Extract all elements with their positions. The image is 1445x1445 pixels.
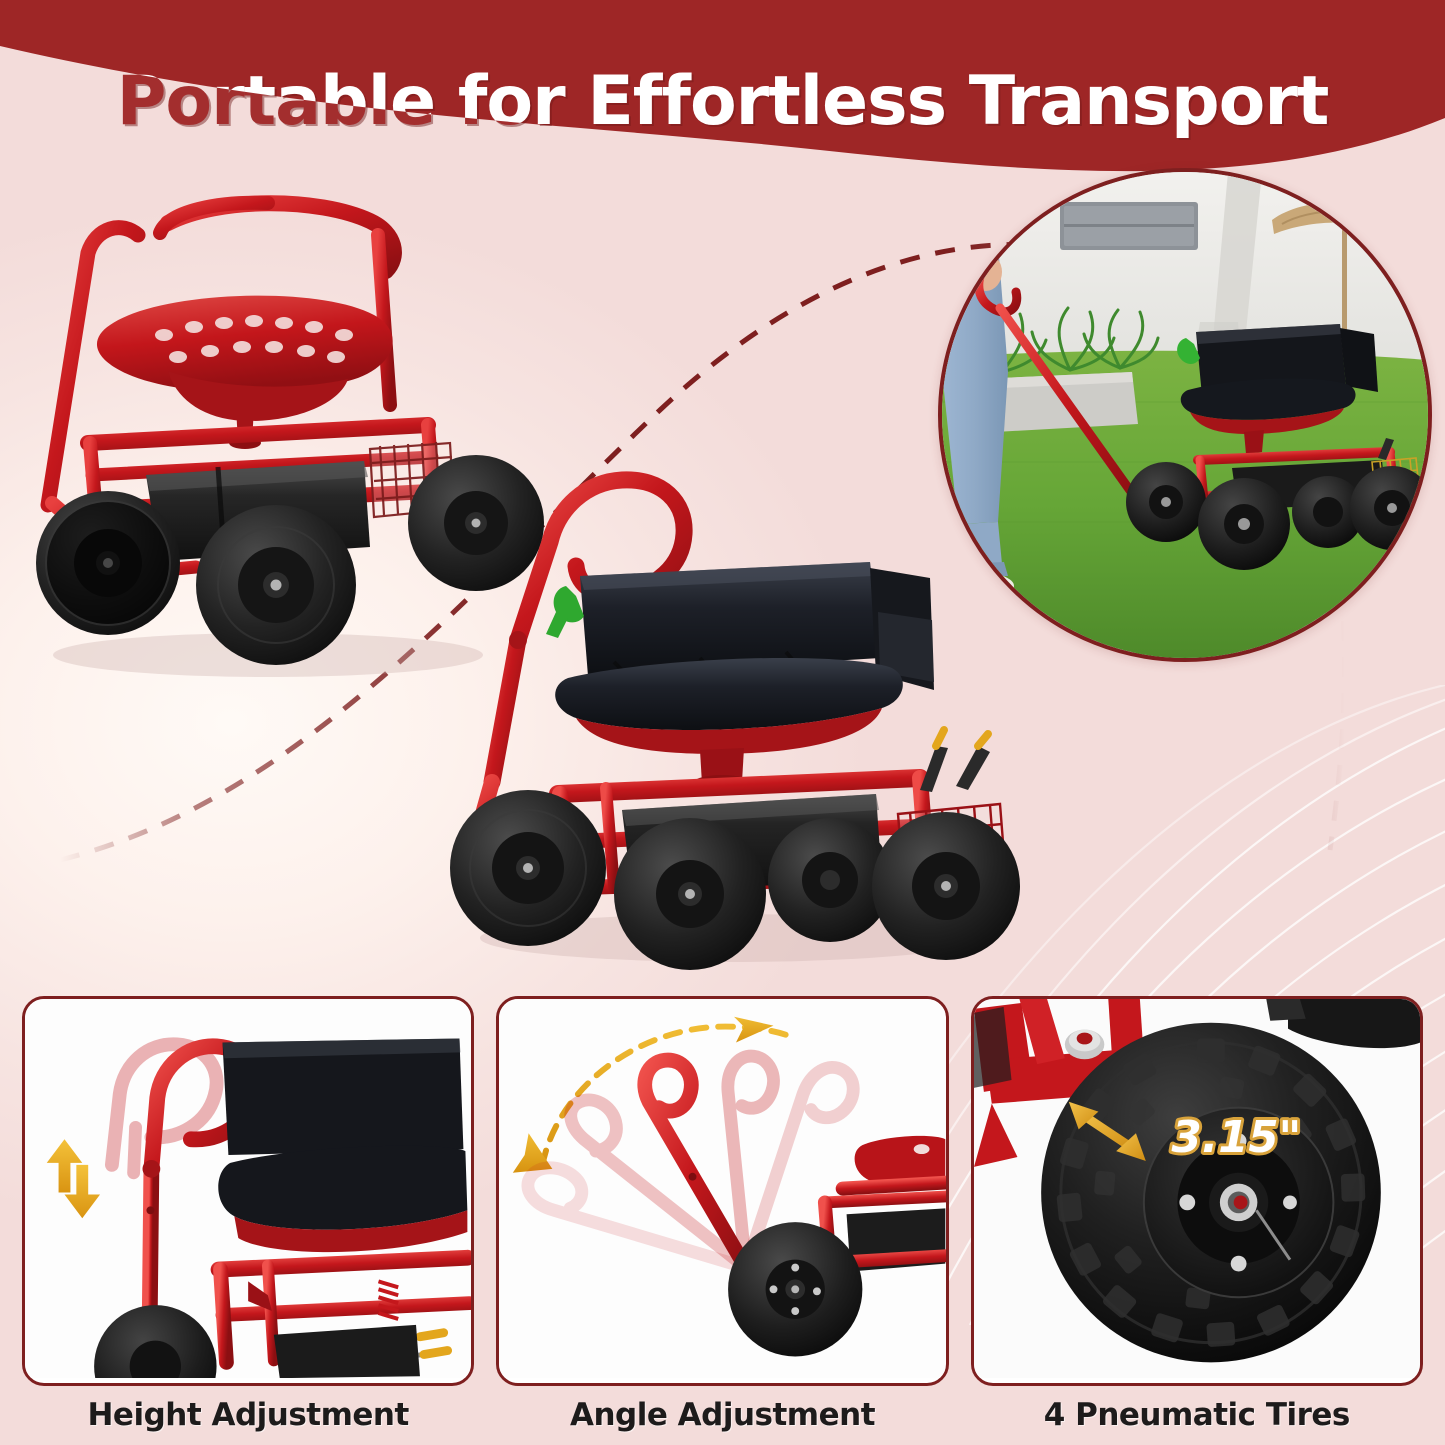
feature-card-angle-adjustment[interactable] xyxy=(496,996,948,1386)
tire xyxy=(614,818,766,970)
tire xyxy=(872,812,1020,960)
caption-pneumatic-tires: 4 Pneumatic Tires xyxy=(971,1392,1423,1444)
tire xyxy=(728,1222,862,1356)
caption-angle-adjustment: Angle Adjustment xyxy=(496,1392,948,1444)
tire-width-label: 3.15" xyxy=(1171,1113,1301,1163)
infographic-canvas: Portable for Effortless Transport Portab… xyxy=(0,0,1445,1445)
caption-height-adjustment: Height Adjustment xyxy=(22,1392,474,1444)
feature-captions: Height Adjustment Angle Adjustment 4 Pne… xyxy=(0,1392,1445,1444)
feature-card-pneumatic-tires[interactable]: 3.15" xyxy=(971,996,1423,1386)
tire xyxy=(196,505,356,665)
height-adjustment-art xyxy=(25,999,471,1378)
tire xyxy=(1041,1023,1381,1363)
pneumatic-tires-art: 3.15" xyxy=(974,999,1420,1378)
tire xyxy=(36,491,180,635)
feature-card-height-adjustment[interactable] xyxy=(22,996,474,1386)
tire xyxy=(450,790,606,946)
hero-product-center xyxy=(400,390,1030,970)
angle-adjustment-art xyxy=(499,999,945,1378)
feature-cards: 3.15" xyxy=(0,996,1445,1386)
lifestyle-photo-inset xyxy=(938,168,1432,662)
